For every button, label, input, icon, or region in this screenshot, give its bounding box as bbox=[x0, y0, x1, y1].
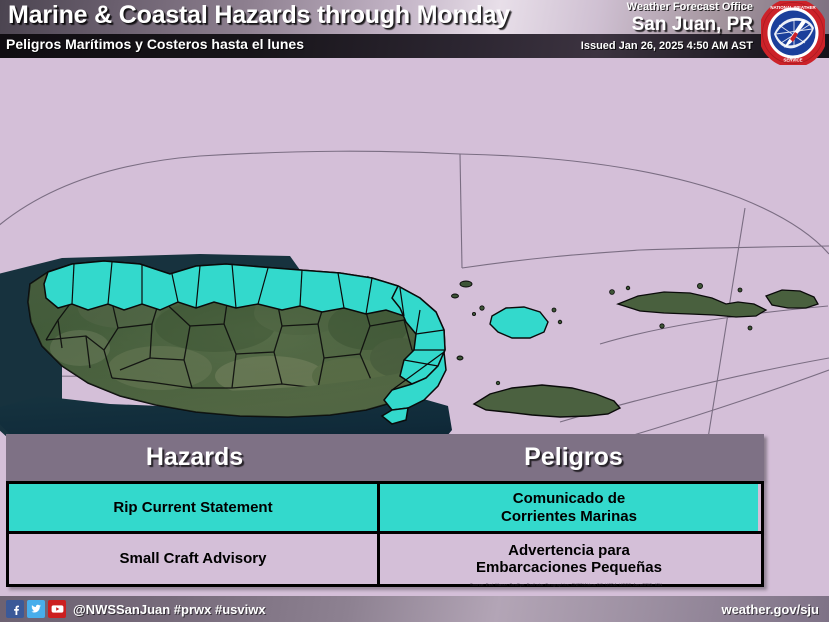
culebra-cay-4 bbox=[558, 320, 562, 324]
hazard-legend-table: Hazards Peligros Rip Current Statement C… bbox=[6, 434, 764, 587]
facebook-icon[interactable] bbox=[6, 600, 24, 618]
usvi-cay-6 bbox=[748, 326, 752, 330]
culebra-cay-3 bbox=[552, 308, 556, 312]
legend-header-row: Hazards Peligros bbox=[6, 434, 764, 481]
legend-small-craft-spanish-line2: Embarcaciones Pequeñas bbox=[476, 559, 662, 576]
office-name: San Juan, PR bbox=[627, 15, 753, 35]
weather-hazard-graphic: Marine & Coastal Hazards through Monday … bbox=[0, 0, 829, 622]
culebra-cay-1 bbox=[480, 306, 484, 310]
office-label: Weather Forecast Office bbox=[627, 2, 753, 14]
nws-logo: NATIONAL WEATHER SERVICE bbox=[761, 1, 825, 65]
forecast-office-block: Weather Forecast Office San Juan, PR bbox=[627, 2, 753, 34]
footer-band: @NWSSanJuan #prwx #usviwx weather.gov/sj… bbox=[0, 596, 829, 622]
social-icon-group bbox=[6, 600, 66, 618]
logo-ring-text-top: NATIONAL WEATHER bbox=[770, 5, 816, 10]
twitter-icon[interactable] bbox=[27, 600, 45, 618]
usvi-cay-2 bbox=[626, 286, 630, 290]
map-attribution: Source: Esri, Maxar, GeoEye, Earthstar G… bbox=[470, 582, 662, 587]
issued-timestamp: Issued Jan 26, 2025 4:50 AM AST bbox=[581, 40, 753, 52]
usvi-cay-3 bbox=[697, 283, 702, 288]
legend-row-small-craft[interactable]: Small Craft Advisory Advertencia para Em… bbox=[6, 534, 764, 587]
usvi-cay-5 bbox=[660, 324, 664, 328]
page-subtitle-spanish: Peligros Marítimos y Costeros hasta el l… bbox=[6, 36, 304, 52]
legend-rip-current-english: Rip Current Statement bbox=[9, 484, 380, 531]
legend-small-craft-spanish-line1: Advertencia para bbox=[508, 542, 630, 559]
legend-small-craft-spanish: Advertencia para Embarcaciones Pequeñas bbox=[380, 534, 758, 584]
page-title: Marine & Coastal Hazards through Monday bbox=[8, 1, 510, 30]
logo-ring-text-bottom: SERVICE bbox=[783, 58, 802, 63]
usvi-cay-1 bbox=[610, 290, 615, 295]
legend-rip-current-spanish: Comunicado de Corrientes Marinas bbox=[380, 484, 758, 531]
legend-rip-current-spanish-line1: Comunicado de bbox=[513, 490, 626, 507]
website-link[interactable]: weather.gov/sju bbox=[721, 602, 819, 617]
legend-rip-current-spanish-line2: Corrientes Marinas bbox=[501, 508, 637, 525]
legend-row-rip-current[interactable]: Rip Current Statement Comunicado de Corr… bbox=[6, 481, 764, 534]
social-handle[interactable]: @NWSSanJuan #prwx #usviwx bbox=[73, 602, 266, 617]
vieques-cay bbox=[496, 381, 500, 385]
legend-header-peligros: Peligros bbox=[383, 434, 764, 481]
usvi-cay-4 bbox=[738, 288, 742, 292]
culebra-cay-2 bbox=[472, 312, 475, 315]
legend-small-craft-english: Small Craft Advisory bbox=[9, 534, 380, 584]
youtube-icon[interactable] bbox=[48, 600, 66, 618]
legend-header-hazards: Hazards bbox=[6, 434, 383, 481]
